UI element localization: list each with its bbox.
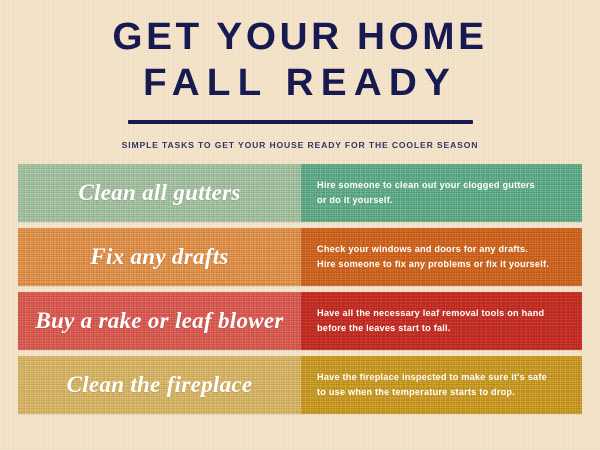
task-description-panel: Check your windows and doors for any dra… bbox=[301, 228, 582, 286]
task-description-line-1: Hire someone to clean out your clogged g… bbox=[317, 178, 535, 193]
task-title: Clean the fireplace bbox=[67, 372, 253, 398]
task-title: Clean all gutters bbox=[78, 180, 240, 206]
task-description-line-1: Check your windows and doors for any dra… bbox=[317, 242, 549, 257]
list-item: Buy a rake or leaf blower Have all the n… bbox=[18, 292, 582, 350]
task-description: Have all the necessary leaf removal tool… bbox=[317, 306, 544, 336]
task-description-line-2: or do it yourself. bbox=[317, 193, 535, 208]
task-description-line-2: to use when the temperature starts to dr… bbox=[317, 385, 547, 400]
list-item: Fix any drafts Check your windows and do… bbox=[18, 228, 582, 286]
page-title-line-2: FALL READY bbox=[0, 64, 600, 102]
task-description-panel: Hire someone to clean out your clogged g… bbox=[301, 164, 582, 222]
task-title-panel: Clean all gutters bbox=[18, 164, 301, 222]
task-description-panel: Have the fireplace inspected to make sur… bbox=[301, 356, 582, 414]
task-title: Buy a rake or leaf blower bbox=[35, 308, 283, 334]
task-description: Have the fireplace inspected to make sur… bbox=[317, 370, 547, 400]
task-description-line-1: Have the fireplace inspected to make sur… bbox=[317, 370, 547, 385]
title-divider-rule bbox=[128, 120, 473, 124]
infographic-page: GET YOUR HOME FALL READY SIMPLE TASKS TO… bbox=[0, 0, 600, 450]
header: GET YOUR HOME FALL READY SIMPLE TASKS TO… bbox=[0, 0, 600, 150]
task-title-panel: Fix any drafts bbox=[18, 228, 301, 286]
task-description-line-2: before the leaves start to fall. bbox=[317, 321, 544, 336]
task-description-line-1: Have all the necessary leaf removal tool… bbox=[317, 306, 544, 321]
task-list: Clean all gutters Hire someone to clean … bbox=[18, 164, 582, 414]
task-title: Fix any drafts bbox=[90, 244, 228, 270]
task-description-line-2: Hire someone to fix any problems or fix … bbox=[317, 257, 549, 272]
list-item: Clean the fireplace Have the fireplace i… bbox=[18, 356, 582, 414]
task-description: Hire someone to clean out your clogged g… bbox=[317, 178, 535, 208]
page-title-line-1: GET YOUR HOME bbox=[0, 18, 600, 56]
task-description: Check your windows and doors for any dra… bbox=[317, 242, 549, 272]
list-item: Clean all gutters Hire someone to clean … bbox=[18, 164, 582, 222]
task-description-panel: Have all the necessary leaf removal tool… bbox=[301, 292, 582, 350]
task-title-panel: Clean the fireplace bbox=[18, 356, 301, 414]
task-title-panel: Buy a rake or leaf blower bbox=[18, 292, 301, 350]
page-subtitle: SIMPLE TASKS TO GET YOUR HOUSE READY FOR… bbox=[0, 140, 600, 150]
